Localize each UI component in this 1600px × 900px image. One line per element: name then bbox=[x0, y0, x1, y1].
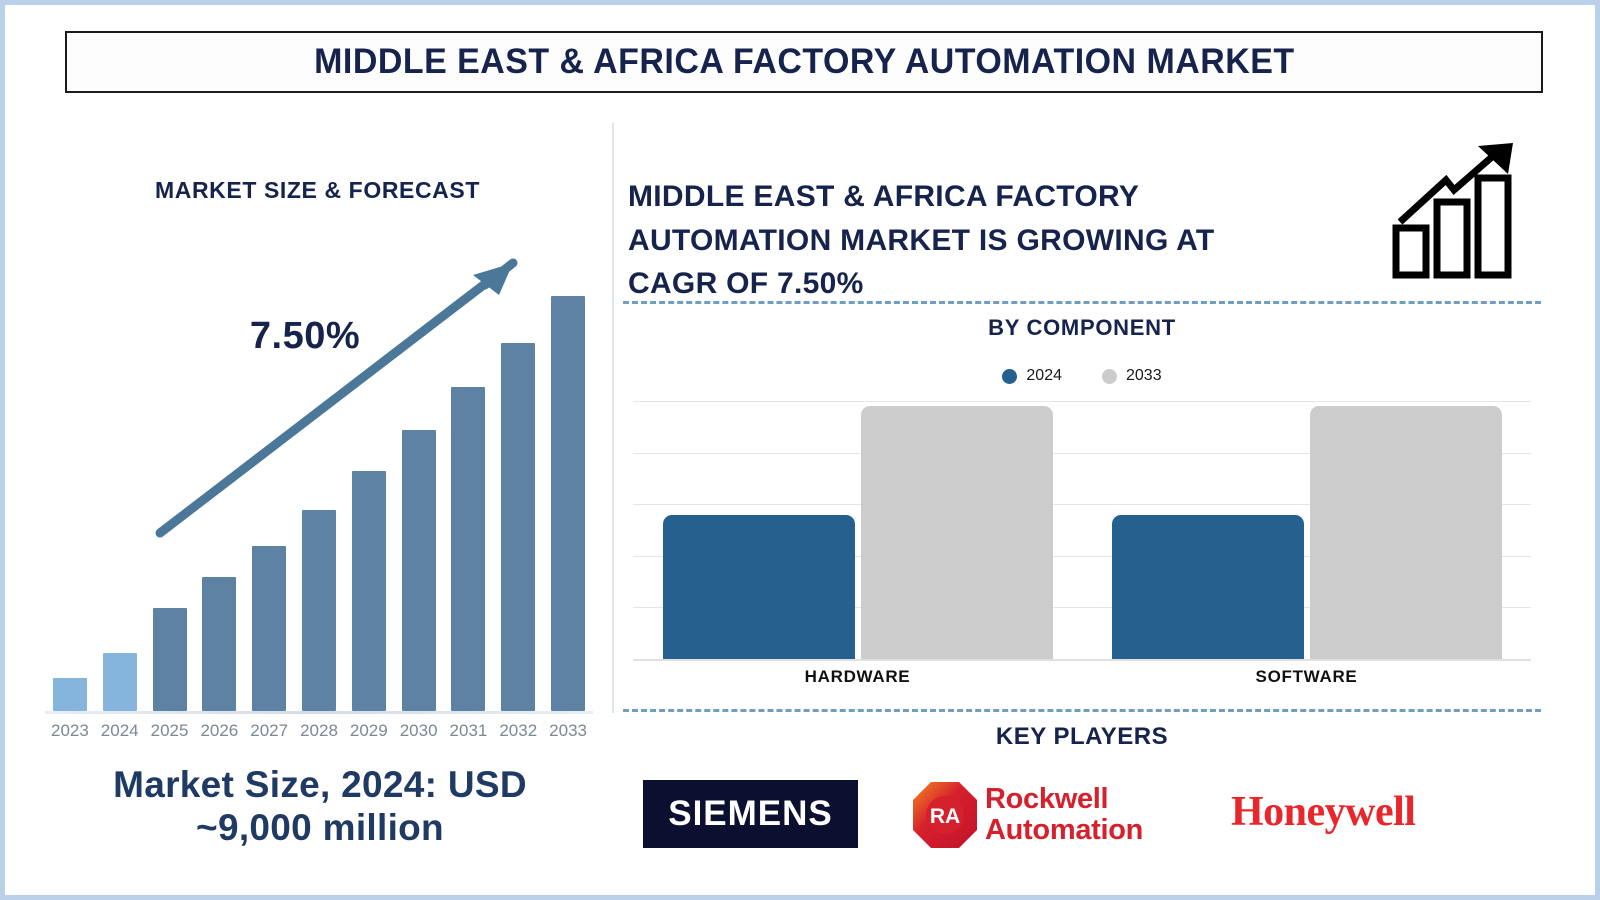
component-category-label: HARDWARE bbox=[708, 667, 1008, 687]
logo-rockwell-line2: Automation bbox=[985, 814, 1143, 846]
growth-headline-line3: CAGR OF 7.50% bbox=[628, 267, 864, 300]
component-panel: MIDDLE EAST & AFRICA FACTORY AUTOMATION … bbox=[623, 115, 1543, 890]
logo-siemens: SIEMENS bbox=[643, 780, 858, 848]
logo-rockwell-automation: RA Rockwell Automation bbox=[911, 772, 1201, 858]
forecast-bar bbox=[451, 387, 485, 711]
component-bar bbox=[1310, 406, 1502, 659]
svg-text:RA: RA bbox=[930, 805, 960, 828]
legend-label: 2024 bbox=[1026, 367, 1062, 385]
forecast-bar bbox=[252, 546, 286, 711]
forecast-bar bbox=[103, 653, 137, 711]
forecast-year-label: 2026 bbox=[194, 721, 244, 741]
forecast-bar-group bbox=[45, 265, 593, 711]
by-component-category-axis: HARDWARESOFTWARE bbox=[633, 667, 1531, 697]
forecast-year-label: 2031 bbox=[443, 721, 493, 741]
forecast-year-label: 2023 bbox=[45, 721, 95, 741]
logo-rockwell-line1: Rockwell bbox=[985, 783, 1108, 815]
legend-item: 2033 bbox=[1102, 367, 1162, 385]
market-size-forecast-panel: MARKET SIZE & FORECAST 7.50% 20232024202… bbox=[25, 115, 610, 885]
legend-item: 2024 bbox=[1002, 367, 1062, 385]
by-component-chart bbox=[633, 401, 1531, 659]
logo-honeywell: Honeywell bbox=[1231, 788, 1521, 836]
rockwell-ra-badge-icon: RA bbox=[911, 780, 979, 850]
forecast-bar bbox=[352, 471, 386, 711]
divider-dashed-top bbox=[623, 301, 1541, 304]
forecast-bar bbox=[302, 510, 336, 711]
forecast-bar bbox=[402, 430, 436, 711]
component-bar bbox=[1112, 515, 1304, 659]
growth-headline-line1: MIDDLE EAST & AFRICA FACTORY bbox=[628, 180, 1139, 213]
forecast-year-label: 2027 bbox=[244, 721, 294, 741]
by-component-axis bbox=[633, 659, 1531, 661]
growth-headline: MIDDLE EAST & AFRICA FACTORY AUTOMATION … bbox=[628, 175, 1328, 306]
growth-headline-line2: AUTOMATION MARKET IS GROWING AT bbox=[628, 224, 1214, 257]
forecast-year-label: 2025 bbox=[145, 721, 195, 741]
by-component-legend: 20242033 bbox=[623, 367, 1541, 385]
market-size-value: Market Size, 2024: USD ~9,000 million bbox=[35, 763, 605, 850]
forecast-year-label: 2024 bbox=[95, 721, 145, 741]
forecast-bar bbox=[501, 343, 535, 711]
component-bar bbox=[861, 406, 1053, 659]
page-title-box: MIDDLE EAST & AFRICA FACTORY AUTOMATION … bbox=[65, 31, 1543, 93]
forecast-bar bbox=[551, 296, 585, 711]
bar-chart-growth-icon bbox=[1388, 140, 1523, 280]
market-size-line2: ~9,000 million bbox=[196, 807, 444, 848]
by-component-title: BY COMPONENT bbox=[623, 315, 1541, 341]
forecast-year-label: 2030 bbox=[394, 721, 444, 741]
infographic-frame: MIDDLE EAST & AFRICA FACTORY AUTOMATION … bbox=[0, 0, 1600, 900]
component-category-label: SOFTWARE bbox=[1157, 667, 1457, 687]
forecast-bar bbox=[153, 608, 187, 711]
key-players-title: KEY PLAYERS bbox=[623, 723, 1541, 751]
forecast-year-label: 2033 bbox=[543, 721, 593, 741]
legend-label: 2033 bbox=[1126, 367, 1162, 385]
forecast-year-label: 2032 bbox=[493, 721, 543, 741]
market-size-line1: Market Size, 2024: USD bbox=[113, 764, 527, 805]
forecast-year-axis: 2023202420252026202720282029203020312032… bbox=[45, 721, 593, 747]
logo-rockwell-text: Rockwell Automation bbox=[985, 784, 1143, 846]
forecast-bar bbox=[202, 577, 236, 711]
panel-divider bbox=[612, 123, 614, 713]
forecast-bar bbox=[53, 678, 87, 711]
market-size-forecast-heading: MARKET SIZE & FORECAST bbox=[25, 177, 610, 204]
forecast-year-label: 2029 bbox=[344, 721, 394, 741]
forecast-year-label: 2028 bbox=[294, 721, 344, 741]
legend-dot-icon bbox=[1102, 369, 1117, 384]
page-title: MIDDLE EAST & AFRICA FACTORY AUTOMATION … bbox=[314, 42, 1294, 82]
key-players-logos: SIEMENS RA Rockwell bbox=[623, 770, 1541, 870]
gridline bbox=[633, 401, 1531, 402]
logo-siemens-text: SIEMENS bbox=[668, 794, 833, 834]
forecast-baseline bbox=[45, 711, 593, 714]
component-bar bbox=[663, 515, 855, 659]
legend-dot-icon bbox=[1002, 369, 1017, 384]
divider-dashed-bottom bbox=[623, 709, 1541, 712]
